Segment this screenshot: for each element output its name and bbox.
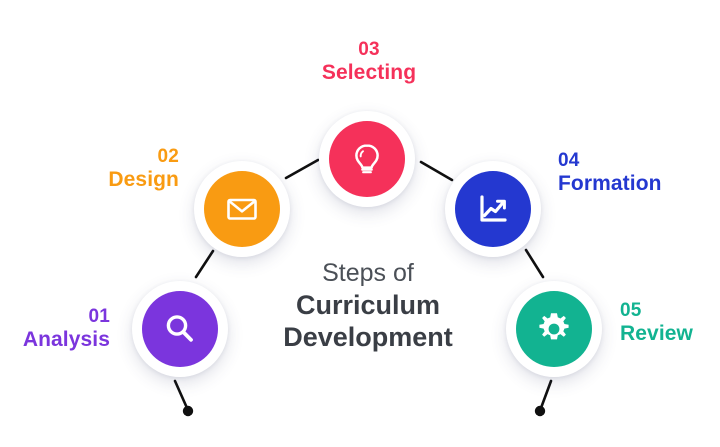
infographic-canvas: 01 Analysis 02 Design 03 Selecting xyxy=(0,0,720,447)
envelope-icon xyxy=(222,189,262,229)
step-name-analysis: Analysis xyxy=(0,328,110,353)
step-node-design[interactable] xyxy=(194,161,290,257)
step-name-formation: Formation xyxy=(558,172,708,197)
center-title-line-2: Curriculum xyxy=(240,289,496,321)
step-number-design: 02 xyxy=(60,146,179,168)
connector-tail-left xyxy=(175,381,187,408)
step-number-selecting: 03 xyxy=(286,39,452,61)
step-node-analysis[interactable] xyxy=(132,281,228,377)
step-node-formation[interactable] xyxy=(445,161,541,257)
connector-design-selecting xyxy=(286,160,318,178)
gear-icon xyxy=(534,309,574,349)
lightbulb-icon xyxy=(347,139,387,179)
node-disc-selecting xyxy=(329,121,405,197)
center-title: Steps of Curriculum Development xyxy=(240,258,496,353)
step-label-analysis: 01 Analysis xyxy=(0,306,110,353)
step-label-formation: 04 Formation xyxy=(558,150,708,197)
step-node-selecting[interactable] xyxy=(319,111,415,207)
node-disc-review xyxy=(516,291,592,367)
connector-dot-right xyxy=(535,406,545,416)
magnifier-icon xyxy=(160,309,200,349)
step-number-review: 05 xyxy=(620,300,720,322)
connector-tail-right xyxy=(541,381,551,408)
step-number-formation: 04 xyxy=(558,150,708,172)
node-disc-formation xyxy=(455,171,531,247)
step-node-review[interactable] xyxy=(506,281,602,377)
step-name-selecting: Selecting xyxy=(286,61,452,86)
center-title-line-3: Development xyxy=(240,321,496,353)
node-disc-analysis xyxy=(142,291,218,367)
node-disc-design xyxy=(204,171,280,247)
step-number-analysis: 01 xyxy=(0,306,110,328)
connector-dot-left xyxy=(183,406,193,416)
step-name-review: Review xyxy=(620,322,720,347)
step-label-design: 02 Design xyxy=(60,146,179,193)
step-label-selecting: 03 Selecting xyxy=(286,39,452,86)
step-label-review: 05 Review xyxy=(620,300,720,347)
center-title-line-1: Steps of xyxy=(240,258,496,289)
step-name-design: Design xyxy=(60,168,179,193)
growth-chart-icon xyxy=(473,189,513,229)
